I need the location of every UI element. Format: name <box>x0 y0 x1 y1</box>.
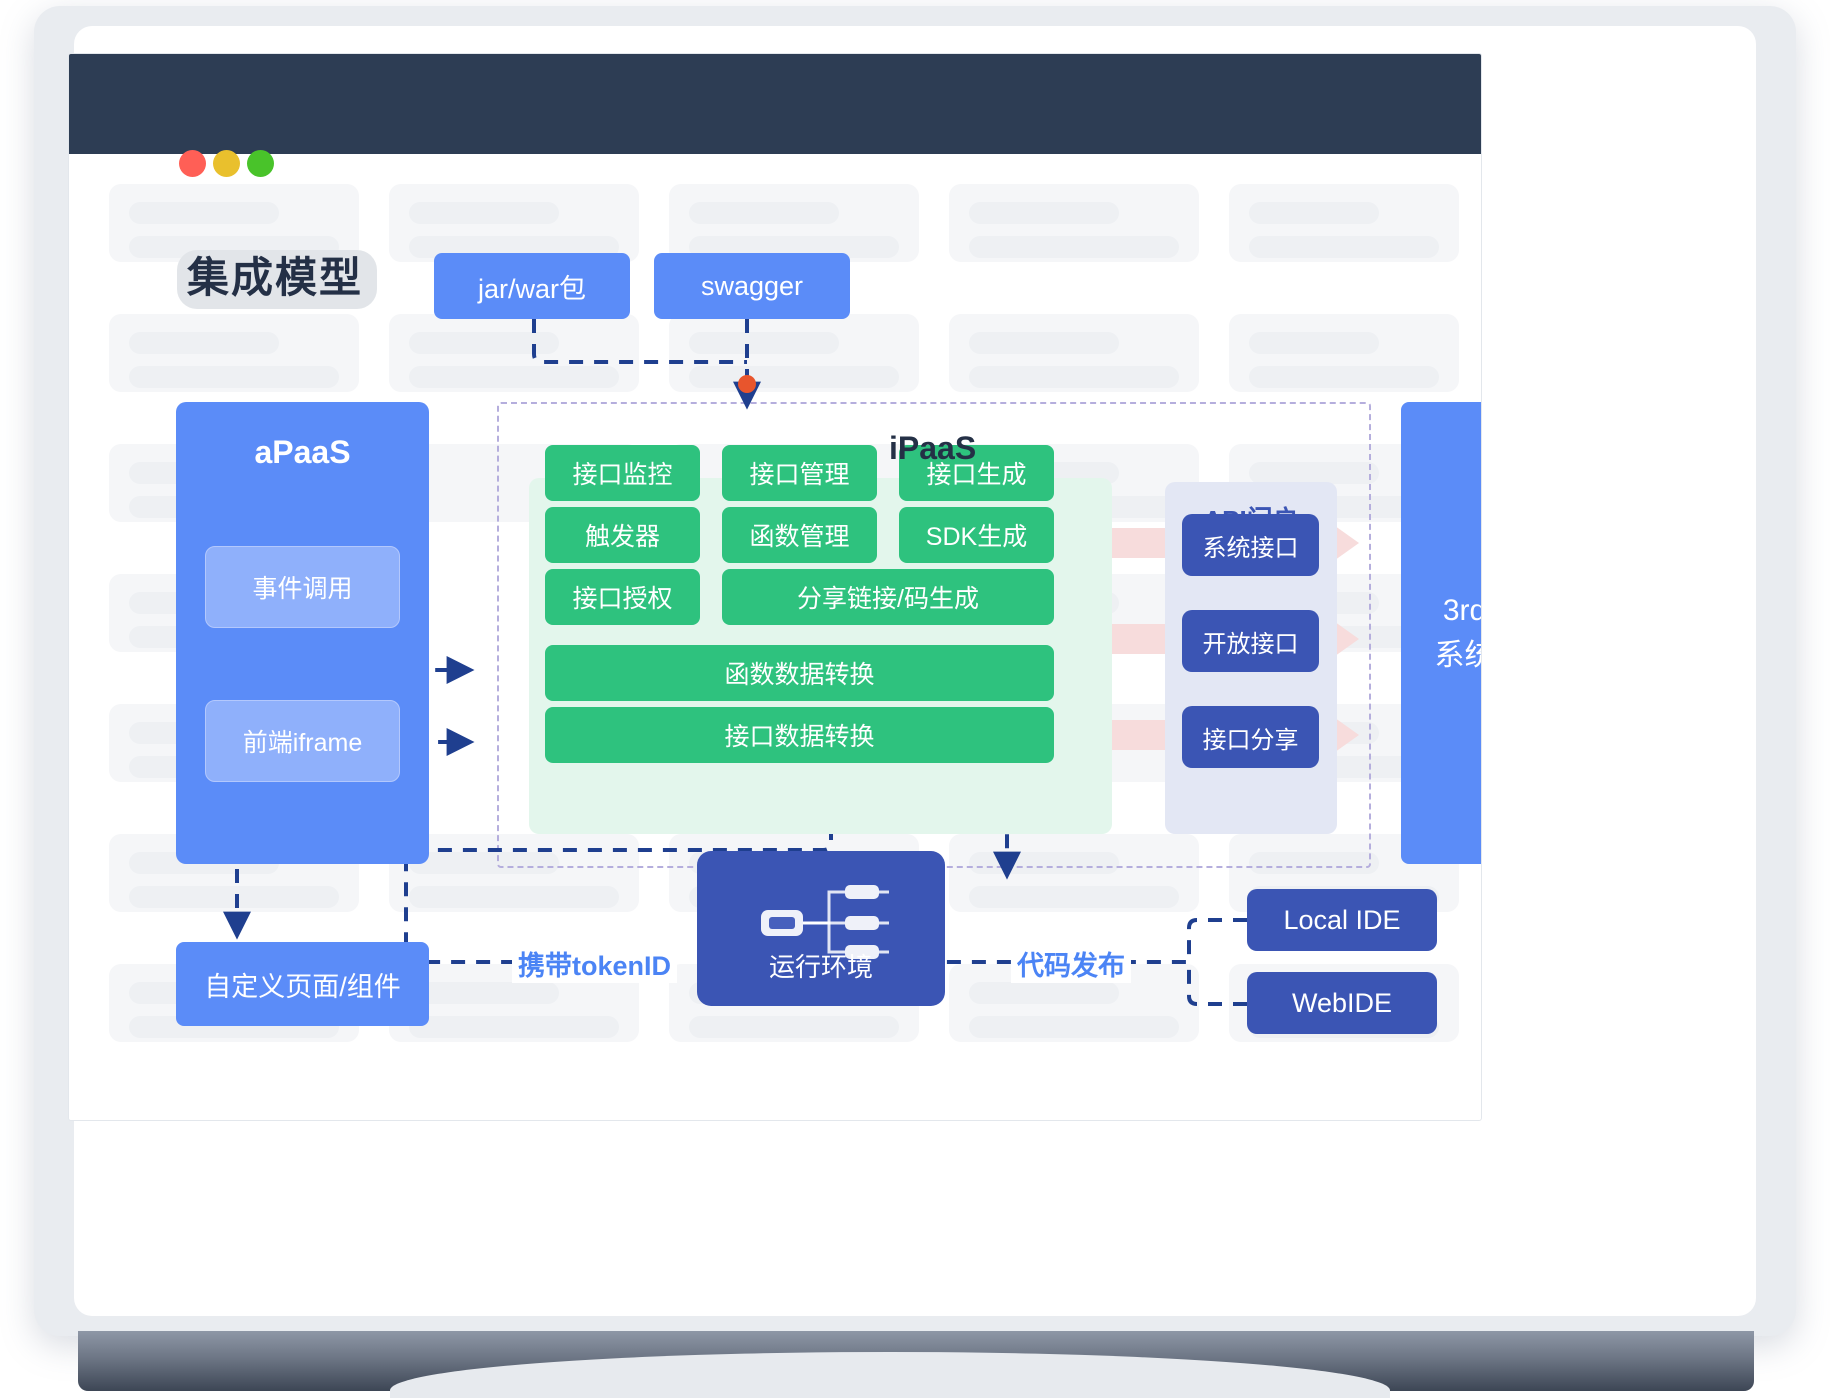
third-party-line1: 3rd <box>1443 588 1482 633</box>
minimize-button-icon[interactable] <box>213 150 240 177</box>
ipaas-cap-sdk-generate-label: SDK生成 <box>926 517 1027 553</box>
ipaas-cap-sdk-generate[interactable]: SDK生成 <box>899 507 1054 563</box>
ipaas-cap-api-manage[interactable]: 接口管理 <box>722 445 877 501</box>
source-node-jar-war[interactable]: jar/war包 <box>434 253 630 319</box>
ipaas-row-function-data-transform[interactable]: 函数数据转换 <box>545 645 1054 701</box>
apaas-container: aPaaS <box>176 402 429 864</box>
local-ide-label: Local IDE <box>1283 905 1400 936</box>
ipaas-row-api-data-transform[interactable]: 接口数据转换 <box>545 707 1054 763</box>
ipaas-cap-api-auth-label: 接口授权 <box>572 579 672 615</box>
page-title-text: 集成模型 <box>177 250 377 309</box>
ipaas-cap-function-manage[interactable]: 函数管理 <box>722 507 877 563</box>
api-portal-item-system-api-label: 系统接口 <box>1203 528 1299 563</box>
close-button-icon[interactable] <box>179 150 206 177</box>
source-node-swagger[interactable]: swagger <box>654 253 850 319</box>
ipaas-cap-trigger[interactable]: 触发器 <box>545 507 700 563</box>
ipaas-row-function-data-transform-label: 函数数据转换 <box>724 655 874 691</box>
local-ide-node[interactable]: Local IDE <box>1247 889 1437 951</box>
screenshot-root: 集成模型 <box>0 0 1830 1397</box>
ipaas-cap-api-auth[interactable]: 接口授权 <box>545 569 700 625</box>
browser-titlebar <box>69 54 1481 154</box>
third-party-system[interactable]: 3rd 系统 <box>1401 402 1482 864</box>
apaas-title: aPaaS <box>176 434 429 471</box>
edge-label-token: 携带tokenID <box>512 944 677 983</box>
ipaas-cap-share-link-label: 分享链接/码生成 <box>797 579 979 615</box>
apaas-node-event-call-label: 事件调用 <box>252 569 352 605</box>
custom-page-component-node[interactable]: 自定义页面/组件 <box>176 942 429 1026</box>
maximize-button-icon[interactable] <box>247 150 274 177</box>
ipaas-cap-share-link[interactable]: 分享链接/码生成 <box>722 569 1054 625</box>
ipaas-cap-trigger-label: 触发器 <box>585 517 660 553</box>
ipaas-cap-function-manage-label: 函数管理 <box>749 517 849 553</box>
runtime-environment-label: 运行环境 <box>697 947 945 984</box>
edge-label-deploy: 代码发布 <box>1011 944 1131 983</box>
browser-window: 集成模型 <box>68 53 1482 1121</box>
ipaas-cap-api-manage-label: 接口管理 <box>749 455 849 491</box>
api-portal-item-api-share[interactable]: 接口分享 <box>1182 706 1319 768</box>
api-portal-item-api-share-label: 接口分享 <box>1203 720 1299 755</box>
source-node-jar-war-label: jar/war包 <box>478 267 586 306</box>
apaas-node-event-call[interactable]: 事件调用 <box>205 546 400 628</box>
custom-page-component-label: 自定义页面/组件 <box>204 965 401 1004</box>
source-node-swagger-label: swagger <box>701 271 803 302</box>
ipaas-cap-api-monitor[interactable]: 接口监控 <box>545 445 700 501</box>
ipaas-title: iPaaS <box>889 430 976 467</box>
page-title: 集成模型 <box>177 244 377 305</box>
webide-node[interactable]: WebIDE <box>1247 972 1437 1034</box>
apaas-node-front-iframe[interactable]: 前端iframe <box>205 700 400 782</box>
api-portal-item-open-api-label: 开放接口 <box>1203 624 1299 659</box>
api-portal-item-open-api[interactable]: 开放接口 <box>1182 610 1319 672</box>
ipaas-cap-api-monitor-label: 接口监控 <box>572 455 672 491</box>
api-portal-item-system-api[interactable]: 系统接口 <box>1182 514 1319 576</box>
ipaas-row-api-data-transform-label: 接口数据转换 <box>724 717 874 753</box>
apaas-node-front-iframe-label: 前端iframe <box>243 723 362 759</box>
runtime-environment-node[interactable]: 运行环境 <box>697 851 945 1006</box>
webide-label: WebIDE <box>1292 988 1392 1019</box>
third-party-line2: 系统 <box>1435 633 1483 678</box>
